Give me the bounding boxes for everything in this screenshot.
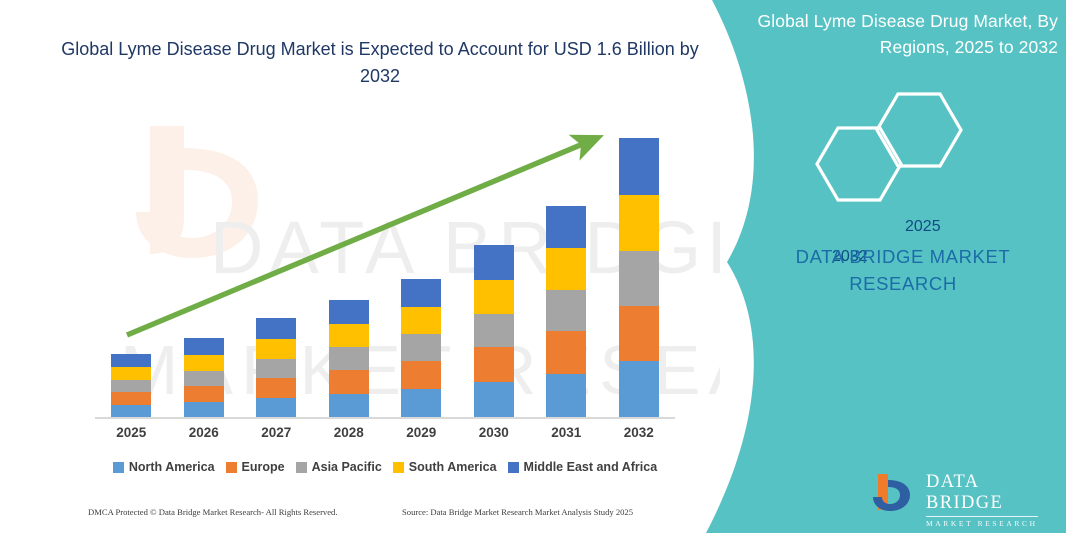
legend-swatch <box>508 462 519 473</box>
bar-segment <box>184 355 224 371</box>
legend-label: Asia Pacific <box>312 460 382 474</box>
bar-segment <box>329 347 369 370</box>
logo-sub-text: MARKET RESEARCH <box>926 519 1048 528</box>
hexagon-label-start: 2025 <box>905 218 941 236</box>
x-axis-labels: 20252026202720282029203020312032 <box>95 425 675 447</box>
x-axis-line <box>95 417 675 419</box>
bar-segment <box>546 290 586 331</box>
bar-segment <box>256 378 296 398</box>
logo-divider <box>926 516 1038 517</box>
bar-segment <box>546 374 586 418</box>
legend-item[interactable]: North America <box>113 460 215 474</box>
bar-segment <box>329 370 369 394</box>
bar-segment <box>256 339 296 359</box>
legend-label: Europe <box>242 460 285 474</box>
bar-segment <box>401 361 441 389</box>
bar-segment <box>111 392 151 405</box>
bar-segment <box>619 251 659 306</box>
chart-title: Global Lyme Disease Drug Market is Expec… <box>60 36 700 90</box>
legend-label: North America <box>129 460 215 474</box>
bar-segment <box>184 371 224 386</box>
bar-segment <box>111 367 151 380</box>
hexagon-group: 2025 2032 <box>800 88 1000 213</box>
stacked-bar-plot <box>95 110 675 418</box>
bar-segment <box>401 279 441 307</box>
bar-segment <box>546 206 586 248</box>
bar-segment <box>474 347 514 382</box>
x-axis-tick-label: 2026 <box>174 425 234 440</box>
bar-column <box>256 318 296 418</box>
bar-segment <box>474 245 514 280</box>
x-axis-tick-label: 2031 <box>536 425 596 440</box>
bar-column <box>329 300 369 418</box>
bar-segment <box>256 318 296 339</box>
legend-swatch <box>226 462 237 473</box>
bar-segment <box>401 307 441 334</box>
bar-segment <box>111 380 151 392</box>
bar-column <box>401 279 441 418</box>
bar-column <box>111 354 151 418</box>
legend-label: South America <box>409 460 497 474</box>
footer-copyright: DMCA Protected © Data Bridge Market Rese… <box>88 507 338 517</box>
bar-column <box>619 138 659 418</box>
x-axis-tick-label: 2025 <box>101 425 161 440</box>
bar-segment <box>256 359 296 378</box>
bar-segment <box>474 280 514 314</box>
data-bridge-logo: DATA BRIDGE MARKET RESEARCH <box>868 470 1048 520</box>
bar-segment <box>329 324 369 347</box>
bar-segment <box>619 195 659 251</box>
x-axis-tick-label: 2027 <box>246 425 306 440</box>
bar-segment <box>619 306 659 361</box>
bar-column <box>546 206 586 418</box>
panel-brand-text: DATA BRIDGE MARKET RESEARCH <box>748 243 1058 297</box>
panel-title: Global Lyme Disease Drug Market, By Regi… <box>748 8 1058 60</box>
bar-segment <box>111 354 151 367</box>
bar-segment <box>329 394 369 418</box>
x-axis-tick-label: 2029 <box>391 425 451 440</box>
legend-label: Middle East and Africa <box>524 460 658 474</box>
bar-column <box>184 338 224 418</box>
bar-segment <box>619 361 659 418</box>
bar-segment <box>401 334 441 361</box>
legend-item[interactable]: Middle East and Africa <box>508 460 658 474</box>
bar-segment <box>256 398 296 418</box>
bar-segment <box>401 389 441 418</box>
bar-segment <box>474 314 514 347</box>
infographic-canvas: Global Lyme Disease Drug Market, By Regi… <box>0 0 1066 533</box>
legend-item[interactable]: Asia Pacific <box>296 460 382 474</box>
bar-segment <box>329 300 369 324</box>
legend-item[interactable]: South America <box>393 460 497 474</box>
bar-segment <box>546 331 586 374</box>
bar-segment <box>619 138 659 195</box>
legend-item[interactable]: Europe <box>226 460 285 474</box>
logo-mark-icon <box>868 470 920 518</box>
x-axis-tick-label: 2032 <box>609 425 669 440</box>
logo-wordmark: DATA BRIDGE MARKET RESEARCH <box>926 472 1048 528</box>
legend-swatch <box>393 462 404 473</box>
bar-column <box>474 245 514 418</box>
x-axis-tick-label: 2028 <box>319 425 379 440</box>
chart-legend: North AmericaEuropeAsia PacificSouth Ame… <box>95 456 675 478</box>
bar-segment <box>184 338 224 355</box>
bar-segment <box>474 382 514 418</box>
bar-segment <box>546 248 586 290</box>
logo-main-text: DATA BRIDGE <box>926 472 1048 514</box>
legend-swatch <box>113 462 124 473</box>
teal-panel-content: Global Lyme Disease Drug Market, By Regi… <box>740 0 1066 533</box>
bar-segment <box>184 402 224 418</box>
x-axis-tick-label: 2030 <box>464 425 524 440</box>
hexagon-outlines <box>800 88 1000 213</box>
footer-source: Source: Data Bridge Market Research Mark… <box>402 507 633 517</box>
bar-segment <box>184 386 224 402</box>
legend-swatch <box>296 462 307 473</box>
